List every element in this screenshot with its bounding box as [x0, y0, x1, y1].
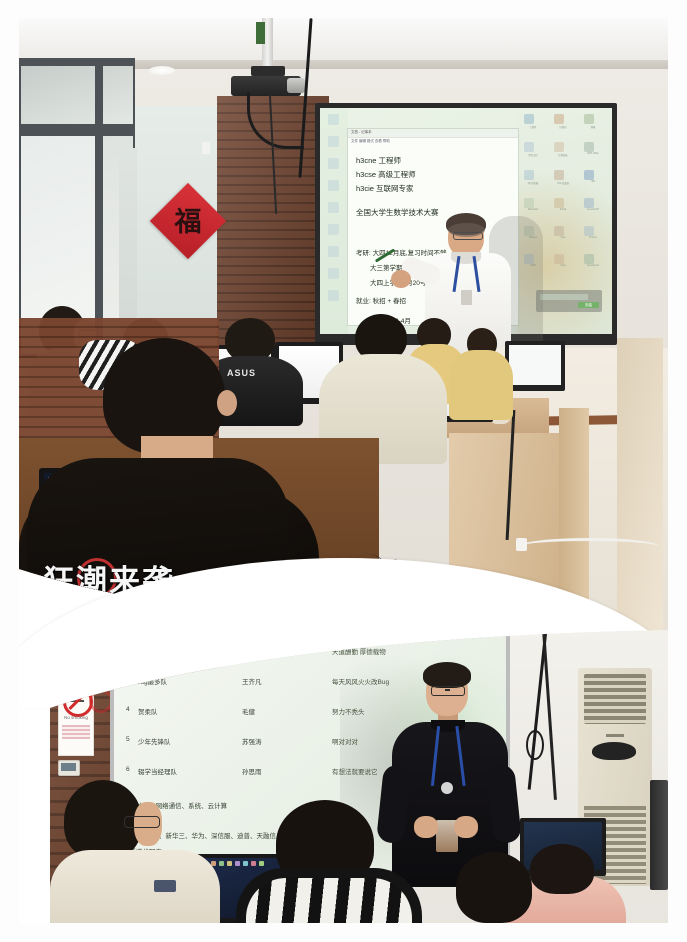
screen-line: h3cne 工程师: [356, 155, 401, 166]
screen-line: h3cie 互联网专家: [356, 183, 414, 194]
roster-row-leader: 孙思雨: [242, 766, 262, 776]
student-body: [449, 350, 513, 420]
desktop-sidebar: [320, 108, 348, 334]
projector-lens: [287, 78, 305, 93]
presenter-hand: [414, 816, 438, 838]
notepad-menubar[interactable]: 文件 编辑 格式 查看 帮助: [351, 139, 390, 144]
wall-sensor: [202, 142, 210, 154]
screen-line: 全国大学生数学技术大赛: [356, 207, 439, 218]
door-glass-pane: [103, 66, 133, 124]
photo-collage: 福 禁 吸烟·禁 No smoking: [0, 0, 687, 942]
ac-brand-logo-icon: [606, 734, 624, 737]
room-divider-panel: [617, 338, 663, 640]
collage-frame: 福 禁 吸烟·禁 No smoking: [19, 18, 668, 923]
roster-row-team: 少年先锋队: [138, 736, 171, 746]
cable-loop: [526, 730, 544, 760]
student-head: [530, 844, 594, 894]
wall-speaker: [650, 780, 668, 890]
student-glasses: [124, 816, 160, 828]
projector-bracket: [251, 66, 285, 76]
screen-line: h3cse 高级工程师: [356, 169, 416, 180]
roster-row-no: 6: [126, 766, 130, 773]
presenter-hair: [423, 662, 471, 688]
roster-row-slogan: 每天风风火火改Bug: [332, 676, 389, 686]
roster-row-slogan: 啊对对对: [332, 736, 358, 746]
instructor-hand: [391, 270, 411, 288]
ceiling-light: [149, 66, 175, 75]
floor-cable: [519, 538, 659, 555]
roster-row-slogan: 努力不秃头: [332, 706, 365, 716]
jacket-logo-icon: [154, 880, 176, 892]
roster-row-leader: 王齐凡: [242, 676, 262, 686]
student-body: [50, 850, 220, 923]
sign-red-band: [62, 725, 90, 739]
power-adapter: [516, 538, 527, 551]
student-head: [456, 852, 532, 923]
roster-row-leader: 苏强涛: [242, 736, 262, 746]
no-smoking-text: No smoking: [59, 715, 93, 720]
presenter-glasses: [431, 686, 465, 696]
roster-row-team: 贺柔队: [138, 706, 158, 716]
thermostat-display: [61, 763, 76, 771]
ac-top-grill: [584, 674, 646, 724]
lanyard-ring: [441, 782, 453, 794]
instructor-glasses: [453, 232, 483, 240]
computer-lab-lecture-photo: 福 禁 吸烟·禁 No smoking: [19, 18, 668, 640]
screen-note: 就业: 秋招 + 春招: [356, 295, 406, 305]
door-glass-pane: [21, 66, 95, 124]
monitor-screen: [509, 345, 561, 385]
notepad-titlebar: [348, 129, 518, 138]
presenter-hand: [454, 816, 478, 838]
fu-character: 福: [161, 200, 215, 244]
foreground-student-ear: [217, 390, 237, 416]
roster-row-team: 辍学当经理队: [138, 766, 177, 776]
projector-bracket-detail: [256, 22, 265, 44]
roster-row-leader: 毛健: [242, 706, 255, 716]
instructor-badge: [461, 290, 472, 305]
ac-air-vent: [592, 742, 636, 760]
dialog-progress-bar: [540, 294, 588, 300]
notepad-title: 文档 - 记事本: [351, 130, 372, 135]
roster-row-no: 5: [126, 736, 130, 743]
wall-thermostat[interactable]: [58, 760, 80, 776]
glasses-bridge: [445, 689, 450, 691]
roster-row-slogan: 有想法就要说它: [332, 766, 378, 776]
dialog-install-button[interactable]: 安装: [578, 302, 599, 308]
instructor-collar: [451, 252, 481, 264]
student-striped-shirt: [246, 878, 412, 923]
roster-row-no: 4: [126, 706, 130, 713]
laptop-brand-label: ASUS: [227, 368, 281, 380]
